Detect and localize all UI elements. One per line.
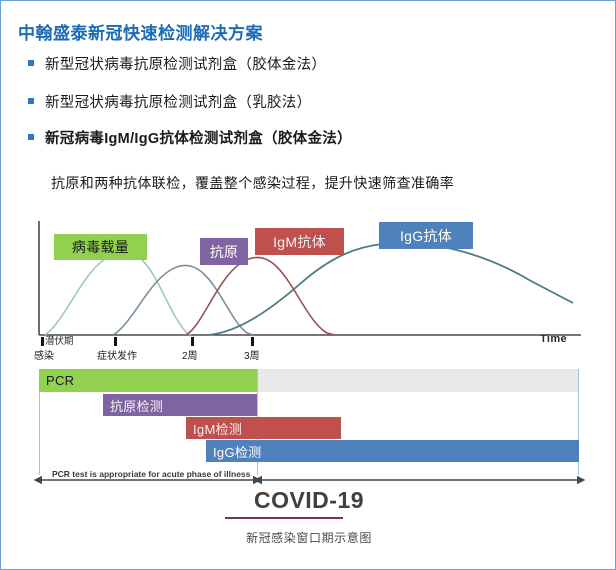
timeline-bar-label-igm: IgM检测 <box>186 419 242 438</box>
curve-igg <box>207 243 573 335</box>
timeline-bar-label-igg: IgG检测 <box>206 442 261 461</box>
page-title: 中翰盛泰新冠快速检测解决方案 <box>18 19 578 44</box>
timeline-bar-igg: IgG检测 <box>206 440 579 462</box>
bullet-square-icon <box>28 98 34 104</box>
timeline-bar-label-antigen: 抗原检测 <box>103 396 163 415</box>
curve-igm <box>186 257 335 335</box>
legend-box-antigen: 抗原 <box>200 238 248 265</box>
bullet-square-icon <box>28 60 34 66</box>
bullet-square-icon <box>28 134 34 140</box>
bullet-item-3: 新冠病毒IgM/IgG抗体检测试剂盒（胶体金法） <box>28 125 588 149</box>
slide-container: 中翰盛泰新冠快速检测解决方案 新型冠状病毒抗原检测试剂盒（胶体金法） 新型冠状病… <box>0 0 616 570</box>
subtitle-text: 抗原和两种抗体联检，覆盖整个感染过程，提升快速筛查准确率 <box>51 173 571 193</box>
legend-box-igg: IgG抗体 <box>379 222 473 249</box>
bullet-label-3: 新冠病毒IgM/IgG抗体检测试剂盒（胶体金法） <box>45 127 352 148</box>
timeline-bar-label-pcr: PCR <box>39 373 74 388</box>
bullet-item-2: 新型冠状病毒抗原检测试剂盒（乳胶法） <box>28 89 588 113</box>
tick-label-infection: 感染 <box>34 347 54 362</box>
timeline-bar-igm: IgM检测 <box>186 417 341 439</box>
timeline-bar-pcr: PCR <box>39 369 257 392</box>
annotation-latent-period: 潜伏期 <box>45 333 74 347</box>
legend-box-igm: IgM抗体 <box>255 228 344 255</box>
covid-title: COVID-19 <box>1 487 616 514</box>
tick-label-onset: 症状发作 <box>97 347 137 362</box>
covid-title-underline <box>225 517 343 519</box>
x-axis-tick-labels: 潜伏期 感染 症状发作 2周 3周 <box>1 331 616 361</box>
legend-box-viral-load: 病毒载量 <box>54 234 147 260</box>
bullet-label-1: 新型冠状病毒抗原检测试剂盒（胶体金法） <box>45 53 326 74</box>
tick-label-week2: 2周 <box>182 347 198 362</box>
curve-viral-load <box>45 252 191 335</box>
tick-label-week3: 3周 <box>244 347 260 362</box>
curve-antigen <box>113 265 253 335</box>
timeline-bar-antigen: 抗原检测 <box>103 394 257 416</box>
figure-caption: 新冠感染窗口期示意图 <box>1 529 616 546</box>
bullet-item-1: 新型冠状病毒抗原检测试剂盒（胶体金法） <box>28 51 588 75</box>
bullet-label-2: 新型冠状病毒抗原检测试剂盒（乳胶法） <box>45 91 311 112</box>
